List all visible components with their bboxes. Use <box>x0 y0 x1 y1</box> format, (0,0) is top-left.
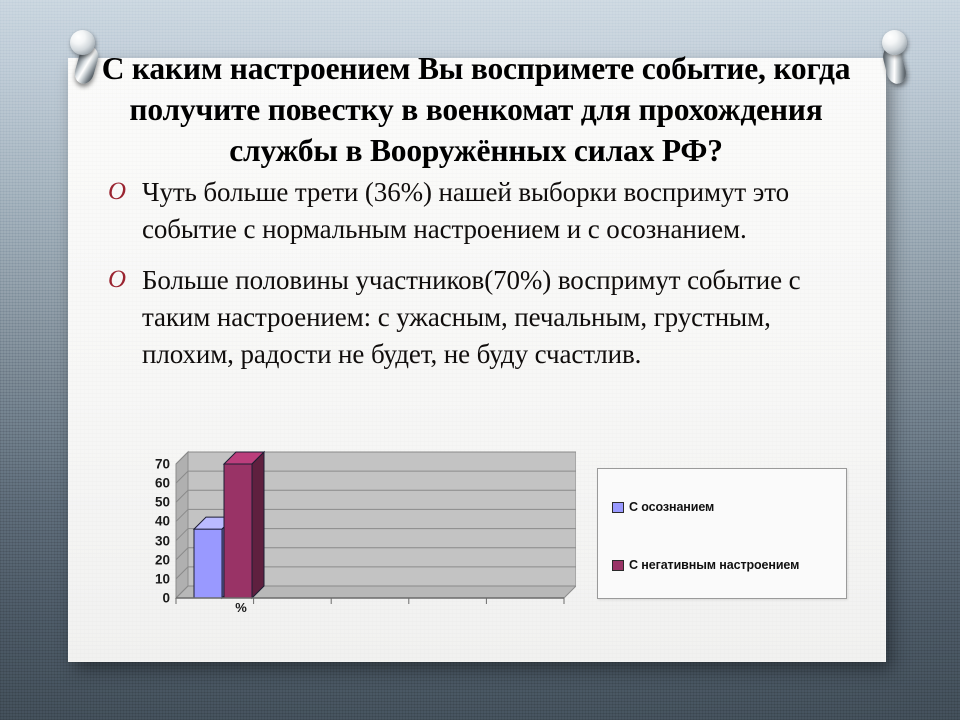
y-tick-50: 50 <box>136 495 170 510</box>
y-tick-30: 30 <box>136 533 170 548</box>
slide-canvas: С каким настроением Вы воспримете событи… <box>0 0 960 720</box>
chart-legend: С осознанием С негативным настроением <box>597 468 847 599</box>
bullet-marker-icon: O <box>104 262 142 298</box>
bullet-text-1: Чуть больше трети (36%) нашей выборки во… <box>142 174 864 248</box>
y-tick-20: 20 <box>136 552 170 567</box>
y-tick-0: 0 <box>136 591 170 606</box>
x-axis-category-label: % <box>196 600 286 615</box>
legend-label-0: С осознанием <box>629 500 714 514</box>
bullet-list: O Чуть больше трети (36%) нашей выборки … <box>104 174 864 387</box>
pushpin-head <box>70 30 95 55</box>
slide-title: С каким настроением Вы воспримете событи… <box>76 48 876 171</box>
legend-item-0: С осознанием <box>612 500 714 514</box>
y-tick-70: 70 <box>136 457 170 472</box>
bullet-text-2: Больше половины участников(70%) восприму… <box>142 262 864 373</box>
chart-plot-area: 010203040506070 % <box>136 450 576 640</box>
bar-chart: 010203040506070 % С осознанием С негатив… <box>136 450 856 640</box>
y-tick-10: 10 <box>136 571 170 586</box>
legend-swatch-icon <box>612 502 624 513</box>
bullet-item-2: O Больше половины участников(70%) воспри… <box>104 262 864 373</box>
pushpin-right-icon <box>872 26 918 88</box>
bullet-marker-icon: O <box>104 174 142 210</box>
pushpin-left-icon <box>64 26 110 88</box>
y-tick-60: 60 <box>136 476 170 491</box>
pushpin-head <box>882 30 907 55</box>
y-axis-tick-labels: 010203040506070 <box>136 450 170 640</box>
legend-swatch-icon <box>612 560 624 571</box>
legend-item-1: С негативным настроением <box>612 558 799 572</box>
legend-label-1: С негативным настроением <box>629 558 799 572</box>
bullet-item-1: O Чуть больше трети (36%) нашей выборки … <box>104 174 864 248</box>
y-tick-40: 40 <box>136 514 170 529</box>
